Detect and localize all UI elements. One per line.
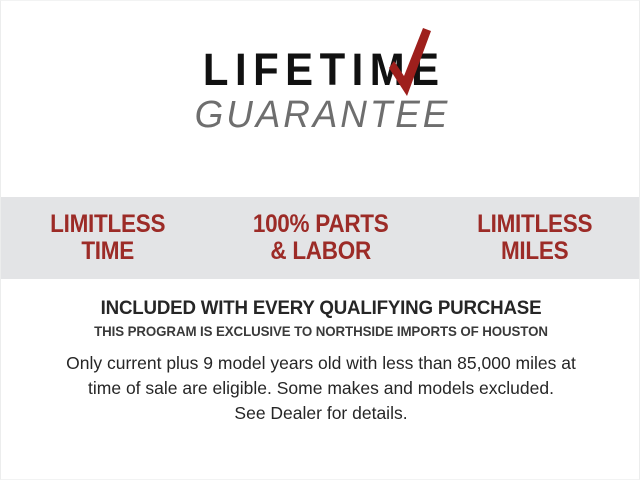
headline-block: INCLUDED WITH EVERY QUALIFYING PURCHASE … bbox=[1, 297, 640, 339]
benefit-line-1: LIMITLESS bbox=[12, 211, 204, 238]
benefit-line-1: LIMITLESS bbox=[438, 211, 630, 238]
logo-lifetime-text: LIFETIME bbox=[196, 47, 445, 92]
fineprint-block: Only current plus 9 model years old with… bbox=[51, 351, 591, 426]
benefit-column-limitless-miles: LIMITLESS MILES bbox=[438, 211, 630, 265]
benefit-line-1: 100% PARTS bbox=[225, 211, 417, 238]
logo-wordmark: LIFETIME bbox=[187, 47, 455, 92]
headline-secondary: THIS PROGRAM IS EXCLUSIVE TO NORTHSIDE I… bbox=[17, 323, 625, 340]
fineprint-line-1: Only current plus 9 model years old with… bbox=[51, 351, 591, 376]
promo-banner: LIFETIME GUARANTEE LIMITLESS TIME 100% P… bbox=[0, 0, 640, 480]
logo-guarantee-text: GUARANTEE bbox=[11, 96, 632, 136]
lifetime-guarantee-logo: LIFETIME GUARANTEE bbox=[1, 47, 640, 136]
benefit-line-2: TIME bbox=[12, 238, 204, 265]
benefit-column-parts-labor: 100% PARTS & LABOR bbox=[225, 211, 417, 265]
benefit-line-2: MILES bbox=[438, 238, 630, 265]
fineprint-line-2: time of sale are eligible. Some makes an… bbox=[51, 376, 591, 401]
fineprint-line-3: See Dealer for details. bbox=[51, 401, 591, 426]
benefit-line-2: & LABOR bbox=[225, 238, 417, 265]
benefits-band: LIMITLESS TIME 100% PARTS & LABOR LIMITL… bbox=[1, 197, 640, 279]
headline-primary: INCLUDED WITH EVERY QUALIFYING PURCHASE bbox=[14, 297, 628, 320]
benefit-column-limitless-time: LIMITLESS TIME bbox=[12, 211, 204, 265]
